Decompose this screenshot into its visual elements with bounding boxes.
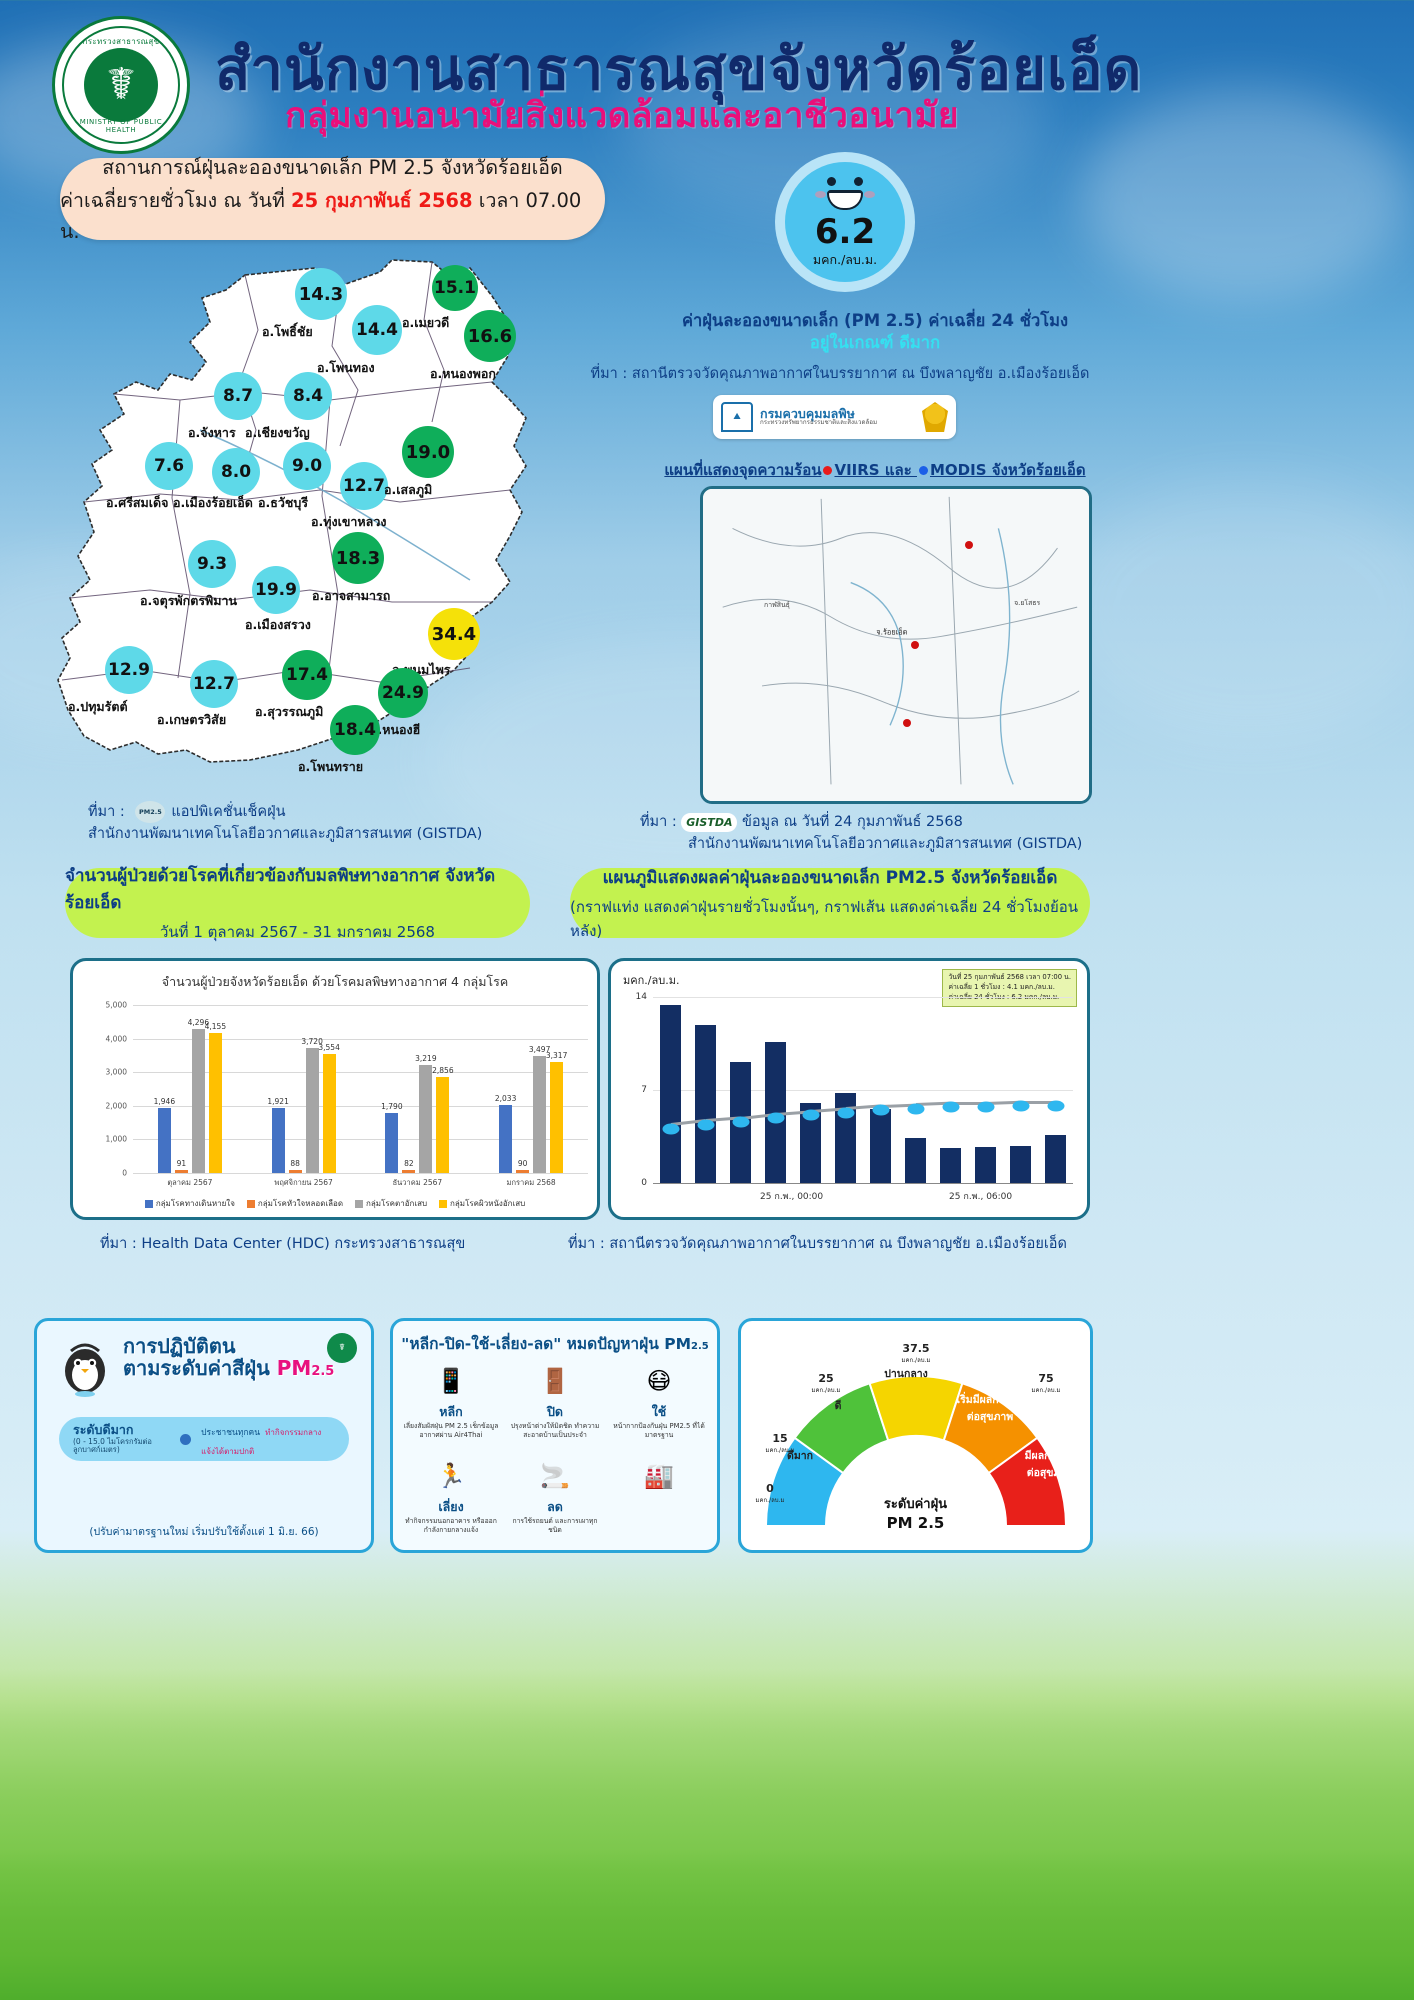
bar-value-label: 88 [290, 1159, 300, 1168]
district-bubble[interactable]: 19.0 [402, 426, 454, 478]
y-axis-tick: 4,000 [106, 1034, 127, 1043]
situation-line-1: สถานการณ์ฝุ่นละอองขนาดเล็ก PM 2.5 จังหวั… [102, 152, 562, 183]
gauge-center-line2: PM 2.5 [884, 1514, 947, 1532]
district-label: อ.เมืองสรวง [245, 615, 311, 635]
svg-text:จ.ยโสธร: จ.ยโสธร [1014, 598, 1040, 607]
garuda-emblem-icon [922, 402, 948, 432]
district-label: อ.เชียงขวัญ [245, 423, 310, 443]
legend-label: กลุ่มโรคตาอักเสบ [366, 1197, 427, 1210]
y-axis-tick: 1,000 [106, 1135, 127, 1144]
bar [419, 1065, 432, 1173]
gauge-center-line1: ระดับค่าฝุ่น [884, 1493, 947, 1514]
tip-text: หน้ากากป้องกันฝุ่น PM2.5 ที่ได้มาตรฐาน [609, 1422, 709, 1440]
gauge-tick-unit: มคก./ลบ.ม [902, 1357, 931, 1364]
tips-panel[interactable]: "หลีก-ปิด-ใช้-เลี่ยง-ลด" หมดปัญหาฝุ่น PM… [390, 1318, 720, 1553]
timeseries-point [942, 1102, 959, 1113]
district-bubble[interactable]: 8.0 [212, 448, 260, 496]
district-label: อ.สุวรรณภูมิ [255, 702, 323, 722]
situation-line2-pre: ค่าเฉลี่ยรายชั่วโมง ณ วันที่ [60, 189, 291, 212]
legend-item: กลุ่มโรคผิวหนังอักเสบ [439, 1197, 525, 1210]
situation-date: 25 กุมภาพันธ์ 2568 [291, 189, 473, 212]
section-right-subtitle: (กราฟแท่ง แสดงค่าฝุ่นรายชั่วโมงนั้นๆ, กร… [570, 895, 1090, 943]
district-label: อ.จตุรพักตรพิมาน [140, 591, 237, 611]
district-label: อ.เกษตรวิสัย [157, 710, 226, 730]
bar-value-label: 1,790 [381, 1102, 402, 1111]
timeseries-point [907, 1103, 924, 1114]
district-bubble[interactable]: 8.7 [214, 372, 262, 420]
gauge-tick-unit: มคก./ลบ.ม [756, 1497, 785, 1504]
pm25-source: ที่มา : สถานีตรวจวัดคุณภาพอากาศในบรรยากา… [560, 362, 1120, 385]
y-axis-tick: 0 [641, 1178, 647, 1188]
bar-chart-legend: กลุ่มโรคทางเดินหายใจกลุ่มโรคหัวใจหลอดเลื… [73, 1197, 597, 1210]
window-close-icon: 🚪 [536, 1361, 574, 1401]
legend-item: กลุ่มโรคหัวใจหลอดเลือด [247, 1197, 343, 1210]
x-axis-tick: 25 ก.พ., 00:00 [760, 1189, 823, 1203]
smiley-face-icon [814, 177, 876, 211]
timeseries-bar [1010, 1146, 1032, 1183]
district-bubble[interactable]: 9.3 [188, 540, 236, 588]
section-right-title: แผนภูมิแสดงผลค่าฝุ่นละอองขนาดเล็ก PM2.5 … [603, 864, 1058, 891]
hotspot-src-pre: ที่มา : [640, 814, 681, 830]
mascot-icon [53, 1337, 117, 1397]
district-label: อ.อาจสามารถ [312, 586, 390, 606]
hotspot-source-line-2: สำนักงานพัฒนาเทคโนโลยีอวกาศและภูมิสารสนเ… [688, 832, 1118, 855]
patients-bar-chart-card[interactable]: จำนวนผู้ป่วยจังหวัดร้อยเอ็ด ด้วยโรคมลพิษ… [70, 958, 600, 1220]
section-header-patients: จำนวนผู้ป่วยด้วยโรคที่เกี่ยวข้องกับมลพิษ… [65, 868, 530, 938]
district-bubble[interactable]: 12.7 [340, 462, 388, 510]
gauge-label-moderate: ปานกลาง [869, 1365, 943, 1382]
district-bubble[interactable]: 18.4 [330, 705, 380, 755]
legend-item: กลุ่มโรคทางเดินหายใจ [145, 1197, 235, 1210]
svg-text:จ.ร้อยเอ็ด: จ.ร้อยเอ็ด [876, 627, 907, 637]
tip-item: 📱หลีกเลี่ยงสัมผัสฝุ่น PM 2.5 เช็กข้อมูลอ… [401, 1361, 501, 1440]
x-axis-tick: มกราคม 2568 [507, 1177, 556, 1189]
district-bubble[interactable]: 19.9 [252, 566, 300, 614]
gauge-tick-value: 37.5 [902, 1342, 929, 1355]
tip-text: ทำกิจกรรมนอกอาคาร หรือออกกำลังกายกลางแจ้… [401, 1517, 501, 1535]
bar-value-label: 3,219 [415, 1054, 436, 1063]
roi-et-province-map[interactable]: 14.3อ.โพธิ์ชัย15.1อ.เมยวดี14.4อ.โพนทอง16… [40, 250, 600, 810]
hotspot-title-pre: แผนที่แสดงจุดความร้อน [664, 461, 821, 479]
tips-title-sub: 2.5 [691, 1341, 709, 1352]
bar-chart-source: ที่มา : Health Data Center (HDC) กระทรวง… [100, 1232, 465, 1255]
moph-small-logo-icon: ☤ [327, 1333, 357, 1363]
district-label: อ.เมืองร้อยเอ็ด [173, 493, 253, 513]
x-axis-tick: พฤศจิกายน 2567 [274, 1177, 332, 1189]
gauge-label-unhealthy-start: เริ่มมีผลกระทบ ต่อสุขภาพ [953, 1391, 1027, 1425]
pm25-level-gauge-panel[interactable]: ดีมาก ดี ปานกลาง เริ่มมีผลกระทบ ต่อสุขภา… [738, 1318, 1093, 1553]
tip-text: ปรุงหน้าต่างให้มิดชิด ทำความสะอาดบ้านเป็… [505, 1422, 605, 1440]
y-axis-tick: 14 [636, 992, 647, 1002]
face-mask-icon: 😷 [640, 1361, 678, 1401]
hotspot-and: และ [880, 461, 917, 479]
y-axis-tick: 7 [641, 1085, 647, 1095]
hotspot-src-post: ข้อมูล ณ วันที่ 24 กุมภาพันธ์ 2568 [737, 814, 963, 830]
timeseries-point [1047, 1101, 1064, 1112]
tip-caption: ปิด [547, 1402, 563, 1422]
timeseries-bar [660, 1005, 682, 1183]
bar-chart-title: จำนวนผู้ป่วยจังหวัดร้อยเอ็ด ด้วยโรคมลพิษ… [73, 972, 597, 992]
timeseries-bar [695, 1025, 717, 1183]
district-label: อ.ทุ่งเขาหลวง [311, 512, 386, 532]
district-bubble[interactable]: 14.3 [295, 268, 347, 320]
bar [499, 1105, 512, 1173]
legend-label: กลุ่มโรคทางเดินหายใจ [156, 1197, 235, 1210]
pcd-subtitle: กระทรวงทรัพยากรธรรมชาติและสิ่งแวดล้อม [760, 420, 877, 427]
tip-caption: ใช้ [652, 1402, 667, 1422]
mobile-app-icon: 📱 [432, 1361, 470, 1401]
no-burning-icon: 🚬 [536, 1456, 574, 1496]
cloud-decor [1060, 480, 1414, 740]
gauge-tick-unit: มคก./ลบ.ม [1032, 1387, 1061, 1394]
district-bubble[interactable]: 24.9 [378, 668, 428, 718]
district-bubble[interactable]: 12.9 [105, 646, 153, 694]
bar [323, 1054, 336, 1173]
gauge-tick-75: 75มคก./ลบ.ม [1023, 1373, 1069, 1396]
gauge-tick-value: 15 [772, 1432, 787, 1445]
timeseries-bar [1045, 1135, 1067, 1183]
bar-value-label: 1,946 [154, 1097, 175, 1106]
gauge-tick-25: 25มคก./ลบ.ม [803, 1373, 849, 1396]
district-label: อ.ธวัชบุรี [258, 493, 308, 513]
tips-panel-title: "หลีก-ปิด-ใช้-เลี่ยง-ลด" หมดปัญหาฝุ่น PM… [393, 1331, 717, 1356]
gauge-label-unhealthy: มีผลกระทบ ต่อสุขภาพ [1013, 1447, 1087, 1481]
timeseries-point [662, 1123, 679, 1134]
timeseries-ylabel: มคก./ลบ.ม. [623, 971, 679, 989]
modis-legend-dot-icon [919, 466, 928, 475]
page-subtitle: กลุ่มงานอนามัยสิ่งแวดล้อมและอาชีวอนามัย [285, 88, 959, 143]
annotation-line: ค่าเฉลี่ย 1 ชั่วโมง : 4.1 มคก./ลบ.ม. [948, 983, 1071, 993]
bar-chart-plot: 01,0002,0003,0004,0005,0001,946914,2964,… [133, 1005, 588, 1173]
practice-who: ประชาชนทุกคน [201, 1428, 260, 1438]
bar-value-label: 91 [177, 1159, 187, 1168]
timeseries-point [732, 1117, 749, 1128]
district-label: อ.ศรีสมเด็จ [106, 493, 169, 513]
timeseries-bar [870, 1109, 892, 1183]
bar-value-label: 2,856 [432, 1066, 453, 1075]
practice-title-pm: PM [277, 1356, 312, 1380]
hotspot-map[interactable]: กาฬสินธุ์ จ.ร้อยเอ็ด จ.ยโสธร [700, 486, 1092, 804]
gistda-logo-icon: GISTDA [681, 813, 737, 832]
timeseries-point [697, 1119, 714, 1130]
y-axis-tick: 5,000 [106, 1001, 127, 1010]
seal-bottom-text: MINISTRY OF PUBLIC HEALTH [64, 118, 178, 134]
bar-value-label: 1,921 [267, 1097, 288, 1106]
district-bubble[interactable]: 14.4 [352, 305, 402, 355]
gridline [653, 1183, 1073, 1184]
tip-text: เลี่ยงสัมผัสฝุ่น PM 2.5 เช็กข้อมูลอากาศผ… [401, 1422, 501, 1440]
bar [385, 1113, 398, 1173]
bar-value-label: 90 [518, 1159, 528, 1168]
tip-item: 🏭 [609, 1456, 709, 1535]
gauge-center-label: ระดับค่าฝุ่น PM 2.5 [884, 1493, 947, 1532]
pm25-unit: มคก./ลบ.ม. [813, 250, 877, 270]
hotspot-modis-label: MODIS [930, 461, 987, 479]
section-left-title: จำนวนผู้ป่วยด้วยโรคที่เกี่ยวข้องกับมลพิษ… [65, 862, 530, 916]
timeseries-point [837, 1107, 854, 1118]
district-bubble[interactable]: 34.4 [428, 608, 480, 660]
factory-icon: 🏭 [640, 1456, 678, 1496]
gauge-tick-value: 75 [1038, 1372, 1053, 1385]
tips-row-2: 🏃เลี่ยงทำกิจกรรมนอกอาคาร หรือออกกำลังกาย… [401, 1456, 709, 1535]
district-label: อ.จังหาร [188, 423, 236, 443]
caduceus-icon: ☤ [84, 48, 158, 122]
bar-value-label: 3,317 [546, 1051, 567, 1060]
timeseries-point [977, 1102, 994, 1113]
gauge-tick-unit: มคก./ลบ.ม [812, 1387, 841, 1394]
map-src-pre: ที่มา : [88, 804, 129, 820]
bar-value-label: 82 [404, 1159, 414, 1168]
svg-text:กาฬสินธุ์: กาฬสินธุ์ [764, 601, 790, 609]
district-label: อ.โพนทอง [317, 358, 375, 378]
district-label: อ.โพธิ์ชัย [262, 322, 313, 342]
timeseries-point [802, 1110, 819, 1121]
timeseries-plot: 071425 ก.พ., 00:0025 ก.พ., 06:00 [653, 997, 1073, 1183]
bar-value-label: 4,155 [205, 1022, 226, 1031]
pm25-value: 6.2 [815, 215, 875, 249]
annotation-line: วันที่ 25 กุมภาพันธ์ 2568 เวลา 07:00 น. [948, 973, 1071, 983]
tip-caption: เลี่ยง [438, 1497, 463, 1517]
district-label: อ.โพนทราย [298, 757, 363, 777]
district-bubble[interactable]: 17.4 [282, 650, 332, 700]
tip-caption: หลีก [439, 1402, 462, 1422]
gauge-tick-375: 37.5มคก./ลบ.ม [893, 1343, 939, 1366]
gauge-tick-value: 0 [766, 1482, 774, 1495]
page-header: กระทรวงสาธารณสุข ☤ MINISTRY OF PUBLIC HE… [0, 0, 1414, 175]
practice-level-range: (0 - 15.0 ไมโครกรัมต่อลูกบาศก์เมตร) [73, 1438, 170, 1455]
district-bubble[interactable]: 16.6 [464, 310, 516, 362]
y-axis-tick: 0 [122, 1169, 127, 1178]
bar [402, 1170, 415, 1173]
timeseries-point [767, 1113, 784, 1124]
legend-item: กลุ่มโรคตาอักเสบ [355, 1197, 427, 1210]
bar [158, 1108, 171, 1173]
district-bubble[interactable]: 7.6 [145, 442, 193, 490]
hotspot-title-post: จังหวัดร้อยเอ็ด [987, 461, 1086, 479]
district-bubble[interactable]: 15.1 [432, 265, 478, 311]
hotspot-source-line-1: ที่มา : GISTDA ข้อมูล ณ วันที่ 24 กุมภาพ… [640, 810, 1110, 833]
hotspot-map-title: แผนที่แสดงจุดความร้อนVIIRS และ MODIS จัง… [640, 458, 1110, 482]
district-label: อ.เมยวดี [402, 313, 449, 333]
tips-title: "หลีก-ปิด-ใช้-เลี่ยง-ลด" หมดปัญหาฝุ่น PM [401, 1335, 691, 1353]
practice-level-name: ระดับดีมาก [73, 1422, 133, 1437]
bar-value-label: 2,033 [495, 1094, 516, 1103]
gauge-label-good: ดี [801, 1397, 875, 1414]
timeseries-point [872, 1105, 889, 1116]
x-axis-tick: ตุลาคม 2567 [167, 1177, 212, 1189]
ministry-of-public-health-logo: กระทรวงสาธารณสุข ☤ MINISTRY OF PUBLIC HE… [52, 16, 190, 154]
bar [306, 1048, 319, 1173]
legend-swatch [439, 1200, 447, 1208]
bar [516, 1170, 529, 1173]
section-left-subtitle: วันที่ 1 ตุลาคม 2567 - 31 มกราคม 2568 [160, 920, 435, 944]
legend-label: กลุ่มโรคหัวใจหลอดเลือด [258, 1197, 343, 1210]
province-map-source-line-2: สำนักงานพัฒนาเทคโนโลยีอวกาศและภูมิสารสนเ… [88, 822, 482, 845]
district-bubble[interactable]: 12.7 [190, 660, 238, 708]
timeseries-point [1012, 1101, 1029, 1112]
practice-title-l1: การปฏิบัติตน [123, 1334, 236, 1358]
practice-footer: (ปรับค่ามาตรฐานใหม่ เริ่มปรับใช้ตั้งแต่ … [37, 1523, 371, 1540]
bar [550, 1062, 563, 1173]
x-axis-tick: ธันวาคม 2567 [393, 1177, 443, 1189]
seal-top-text: กระทรวงสาธารณสุข [64, 35, 178, 48]
tips-row-1: 📱หลีกเลี่ยงสัมผัสฝุ่น PM 2.5 เช็กข้อมูลอ… [401, 1361, 709, 1440]
district-label: อ.ปทุมรัตต์ [68, 697, 128, 717]
hotspot-point [903, 719, 911, 727]
district-bubble[interactable]: 8.4 [284, 372, 332, 420]
hotspot-point [965, 541, 973, 549]
legend-swatch [145, 1200, 153, 1208]
bar [436, 1077, 449, 1173]
practice-title-pm-sub: 2.5 [311, 1364, 334, 1379]
hotspot-viirs-label: VIIRS [834, 461, 879, 479]
gauge-tick-0: 0มคก./ลบ.ม [747, 1483, 793, 1506]
viirs-legend-dot-icon [823, 466, 832, 475]
practice-level-row: ระดับดีมาก (0 - 15.0 ไมโครกรัมต่อลูกบาศก… [59, 1417, 349, 1461]
practice-panel[interactable]: การปฏิบัติตน ตามระดับค่าสีฝุ่น PM2.5 ☤ ร… [34, 1318, 374, 1553]
pollution-control-department-banner: ⛰ กรมควบคุมมลพิษ กระทรวงทรัพยากรธรรมชาติ… [713, 395, 956, 439]
legend-swatch [355, 1200, 363, 1208]
timeseries-bar [940, 1148, 962, 1183]
situation-banner: สถานการณ์ฝุ่นละอองขนาดเล็ก PM 2.5 จังหวั… [60, 158, 605, 240]
gauge-tick-value: 25 [818, 1372, 833, 1385]
gauge-tick-15: 15มคก./ลบ.ม [757, 1433, 803, 1456]
practice-title-l2: ตามระดับค่าสีฝุ่น [123, 1356, 270, 1380]
bar [209, 1033, 222, 1173]
practice-panel-title: การปฏิบัติตน ตามระดับค่าสีฝุ่น PM2.5 [123, 1335, 334, 1380]
district-bubble[interactable]: 18.3 [332, 532, 384, 584]
bar [289, 1170, 302, 1173]
hotspot-map-graphic: กาฬสินธุ์ จ.ร้อยเอ็ด จ.ยโสธร [703, 489, 1089, 802]
bar [192, 1029, 205, 1173]
gauge-tick-unit: มคก./ลบ.ม [766, 1447, 795, 1454]
pm25-app-icon: PM2.5 [135, 801, 165, 823]
gridline [653, 997, 1073, 998]
tip-caption: ลด [547, 1497, 563, 1517]
map-src-post: แอปพิเคชั่นเช็คฝุ่น [171, 804, 285, 820]
bar [272, 1108, 285, 1173]
hotspot-point [911, 641, 919, 649]
timeseries-source: ที่มา : สถานีตรวจวัดคุณภาพอากาศในบรรยากา… [568, 1232, 1067, 1255]
gridline [133, 1005, 588, 1006]
pcd-logo-icon: ⛰ [721, 402, 753, 432]
timeseries-bar [905, 1138, 927, 1183]
tip-item: 🚬ลดการใช้รถยนต์ และการเผาทุกชนิด [505, 1456, 605, 1535]
grass-decor-front [0, 1850, 1414, 2000]
district-label: อ.หนองพอก [430, 364, 496, 384]
x-axis-tick: 25 ก.พ., 06:00 [949, 1189, 1012, 1203]
legend-swatch [247, 1200, 255, 1208]
tip-item: 🚪ปิดปรุงหน้าต่างให้มิดชิด ทำความสะอาดบ้า… [505, 1361, 605, 1440]
timeseries-bar [975, 1147, 997, 1183]
y-axis-tick: 3,000 [106, 1068, 127, 1077]
district-label: อ.เสลภูมิ [384, 480, 432, 500]
y-axis-tick: 2,000 [106, 1101, 127, 1110]
bar [175, 1170, 188, 1173]
pm25-value-badge: 6.2 มคก./ลบ.ม. [775, 152, 915, 292]
tip-text: การใช้รถยนต์ และการเผาทุกชนิด [505, 1517, 605, 1535]
district-bubble[interactable]: 9.0 [283, 442, 331, 490]
pm25-description-2: อยู่ในเกณฑ์ ดีมาก [640, 330, 1110, 356]
level-dot-icon [180, 1434, 191, 1445]
situation-line-2: ค่าเฉลี่ยรายชั่วโมง ณ วันที่ 25 กุมภาพัน… [60, 185, 605, 247]
bar [533, 1056, 546, 1173]
pm25-timeseries-card[interactable]: มคก./ลบ.ม. วันที่ 25 กุมภาพันธ์ 2568 เวล… [608, 958, 1090, 1220]
legend-label: กลุ่มโรคผิวหนังอักเสบ [450, 1197, 525, 1210]
gridline [133, 1173, 588, 1174]
running-person-icon: 🏃 [432, 1456, 470, 1496]
province-map-source-line-1: ที่มา : PM2.5แอปพิเคชั่นเช็คฝุ่น [88, 800, 286, 823]
tip-item: 🏃เลี่ยงทำกิจกรรมนอกอาคาร หรือออกกำลังกาย… [401, 1456, 501, 1535]
tip-item: 😷ใช้หน้ากากป้องกันฝุ่น PM2.5 ที่ได้มาตรฐ… [609, 1361, 709, 1440]
section-header-pm-chart: แผนภูมิแสดงผลค่าฝุ่นละอองขนาดเล็ก PM2.5 … [570, 868, 1090, 938]
bar-value-label: 3,554 [318, 1043, 339, 1052]
